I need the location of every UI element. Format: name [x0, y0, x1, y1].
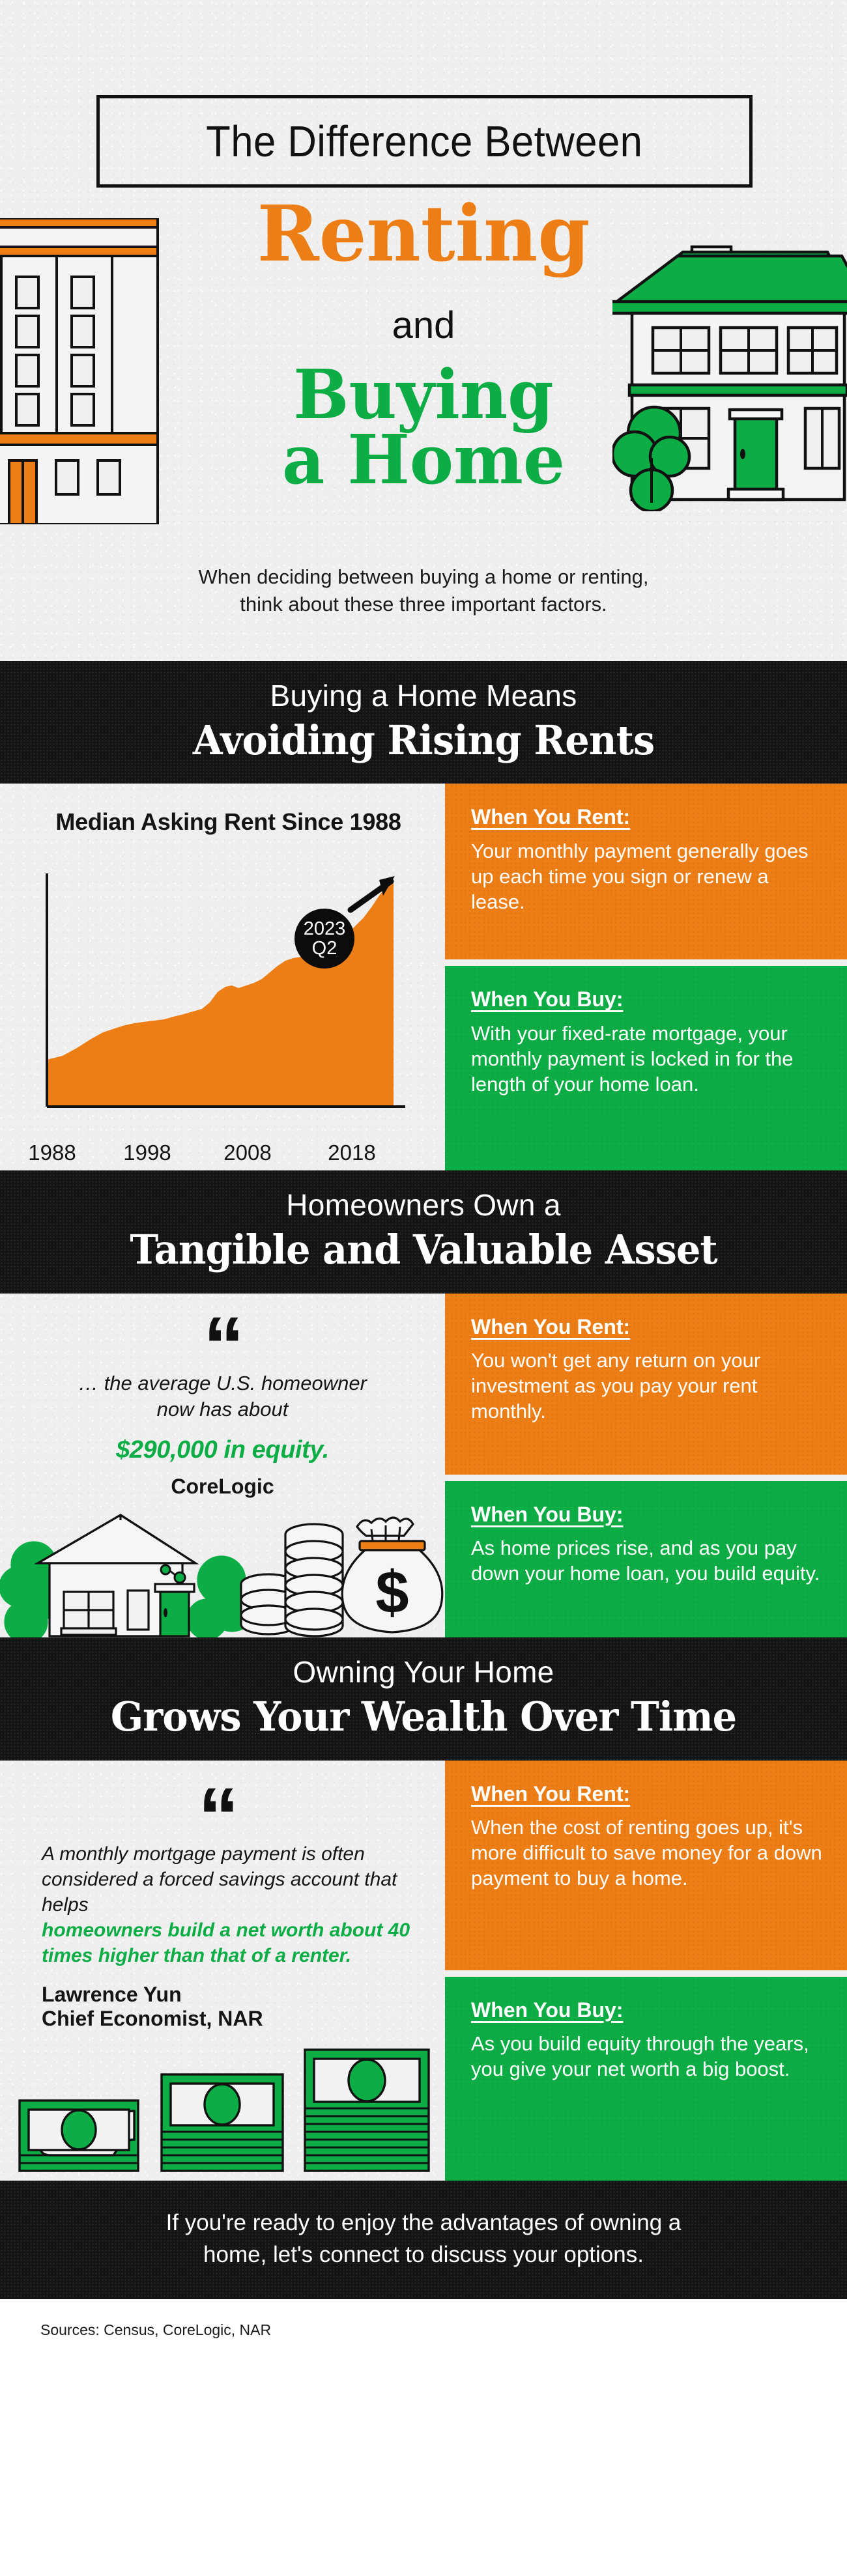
chart-plot-area: 2023 Q2 — [0, 864, 445, 1138]
chart-title: Median Asking Rent Since 1988 — [0, 808, 445, 836]
chart-tick-1988: 1988 — [28, 1140, 76, 1165]
hero-section: The Difference Between Renting and Buyin… — [0, 0, 847, 661]
equity-quote-highlight: $290,000 in equity. — [38, 1434, 407, 1466]
chart-svg — [0, 864, 445, 1138]
banner-small-1: Buying a Home Means — [26, 679, 821, 713]
chart-tick-2008: 2008 — [223, 1140, 271, 1165]
card-heading-rent-2: When You Rent: — [471, 1316, 824, 1338]
banner-big-3: Grows Your Wealth Over Time — [46, 1695, 801, 1738]
footer-cta-line2: home, let's connect to discuss your opti… — [98, 2239, 749, 2271]
hero-word-buying-line2: a Home — [13, 427, 835, 492]
banner-big-2: Tangible and Valuable Asset — [46, 1228, 801, 1271]
quote-mark-icon: “ — [42, 1794, 419, 1841]
equity-quote-source: CoreLogic — [38, 1475, 407, 1499]
banner-big-1: Avoiding Rising Rents — [46, 719, 801, 762]
chart-annotation-badge: 2023 Q2 — [294, 909, 354, 969]
card-divider — [445, 959, 847, 966]
house-coins-moneybag-illustration: $ — [0, 1501, 445, 1637]
compare-cards-1: When You Rent: Your monthly payment gene… — [445, 784, 847, 1170]
hero-subtitle: When deciding between buying a home or r… — [0, 563, 847, 617]
card-body-buy-2: As home prices rise, and as you pay down… — [471, 1535, 824, 1586]
wealth-quote-source-name: Lawrence Yun — [42, 1983, 419, 2007]
card-body-buy-1: With your fixed-rate mortgage, your mont… — [471, 1021, 824, 1097]
card-when-you-rent-2: When You Rent: You won't get any return … — [445, 1294, 847, 1475]
wealth-quote: “ A monthly mortgage payment is often co… — [0, 1761, 445, 2031]
card-divider — [445, 1970, 847, 1977]
card-heading-buy-1: When You Buy: — [471, 988, 824, 1011]
card-when-you-buy-3: When You Buy: As you build equity throug… — [445, 1977, 847, 2181]
card-heading-buy-2: When You Buy: — [471, 1503, 824, 1526]
card-body-buy-3: As you build equity through the years, y… — [471, 2031, 824, 2082]
chart-x-axis-labels: 1988 1998 2008 2018 — [0, 1140, 445, 1170]
card-body-rent-1: Your monthly payment generally goes up e… — [471, 838, 824, 914]
card-divider — [445, 1475, 847, 1481]
hero-word-and: and — [0, 304, 847, 347]
content-row-1: Median Asking Rent Since 1988 2023 Q2 — [0, 784, 847, 1170]
wealth-quote-source-title: Chief Economist, NAR — [42, 2007, 419, 2031]
footer-cta-line1: If you're ready to enjoy the advantages … — [98, 2207, 749, 2239]
svg-text:$: $ — [375, 1559, 409, 1626]
badge-line1: 2023 — [304, 919, 346, 939]
rent-chart: Median Asking Rent Since 1988 2023 Q2 — [0, 784, 445, 1170]
badge-line2: Q2 — [312, 939, 337, 958]
hero-word-buying-line1: Buying — [13, 362, 835, 427]
footer-cta: If you're ready to enjoy the advantages … — [0, 2181, 847, 2299]
banner-small-3: Owning Your Home — [26, 1656, 821, 1689]
card-when-you-rent-3: When You Rent: When the cost of renting … — [445, 1761, 847, 1970]
infographic-page: The Difference Between Renting and Buyin… — [0, 0, 847, 2357]
money-stacks-illustration — [0, 2047, 445, 2181]
chart-tick-1998: 1998 — [123, 1140, 171, 1165]
card-when-you-buy-1: When You Buy: With your fixed-rate mortg… — [445, 966, 847, 1170]
quote-mark-icon: “ — [38, 1323, 407, 1370]
compare-cards-3: When You Rent: When the cost of renting … — [445, 1761, 847, 2181]
card-when-you-buy-2: When You Buy: As home prices rise, and a… — [445, 1481, 847, 1638]
chart-tick-2018: 2018 — [328, 1140, 375, 1165]
content-row-3: “ A monthly mortgage payment is often co… — [0, 1761, 847, 2181]
card-heading-rent-3: When You Rent: — [471, 1783, 824, 1805]
hero-kicker: The Difference Between — [206, 117, 642, 167]
wealth-quote-plain: A monthly mortgage payment is often cons… — [42, 1841, 419, 1918]
hero-subtitle-line1: When deciding between buying a home or r… — [0, 563, 847, 591]
section-banner-tangible-asset: Homeowners Own a Tangible and Valuable A… — [0, 1170, 847, 1293]
card-when-you-rent-1: When You Rent: Your monthly payment gene… — [445, 784, 847, 959]
hero-kicker-box: The Difference Between — [96, 95, 753, 188]
hero-subtitle-line2: think about these three important factor… — [0, 591, 847, 618]
equity-quote-panel: “ … the average U.S. homeowner now has a… — [0, 1294, 445, 1638]
equity-quote-line1: … the average U.S. homeowner — [38, 1370, 407, 1396]
card-body-rent-3: When the cost of renting goes up, it's m… — [471, 1815, 824, 1891]
section-banner-grows-wealth: Owning Your Home Grows Your Wealth Over … — [0, 1637, 847, 1760]
banner-small-2: Homeowners Own a — [26, 1189, 821, 1222]
hero-word-buying: Buying a Home — [13, 362, 835, 492]
section-banner-avoiding-rising-rents: Buying a Home Means Avoiding Rising Rent… — [0, 661, 847, 784]
compare-cards-2: When You Rent: You won't get any return … — [445, 1294, 847, 1638]
equity-quote-line2: now has about — [38, 1396, 407, 1422]
chart-panel: Median Asking Rent Since 1988 2023 Q2 — [0, 784, 445, 1170]
card-heading-rent-1: When You Rent: — [471, 806, 824, 828]
card-body-rent-2: You won't get any return on your investm… — [471, 1348, 824, 1424]
wealth-quote-highlight: homeowners build a net worth about 40 ti… — [42, 1918, 419, 1968]
hero-word-renting: Renting — [13, 195, 835, 272]
content-row-2: “ … the average U.S. homeowner now has a… — [0, 1294, 847, 1638]
equity-quote: “ … the average U.S. homeowner now has a… — [0, 1294, 445, 1499]
card-heading-buy-3: When You Buy: — [471, 1999, 824, 2022]
wealth-quote-panel: “ A monthly mortgage payment is often co… — [0, 1761, 445, 2181]
sources-note: Sources: Census, CoreLogic, NAR — [0, 2299, 847, 2357]
